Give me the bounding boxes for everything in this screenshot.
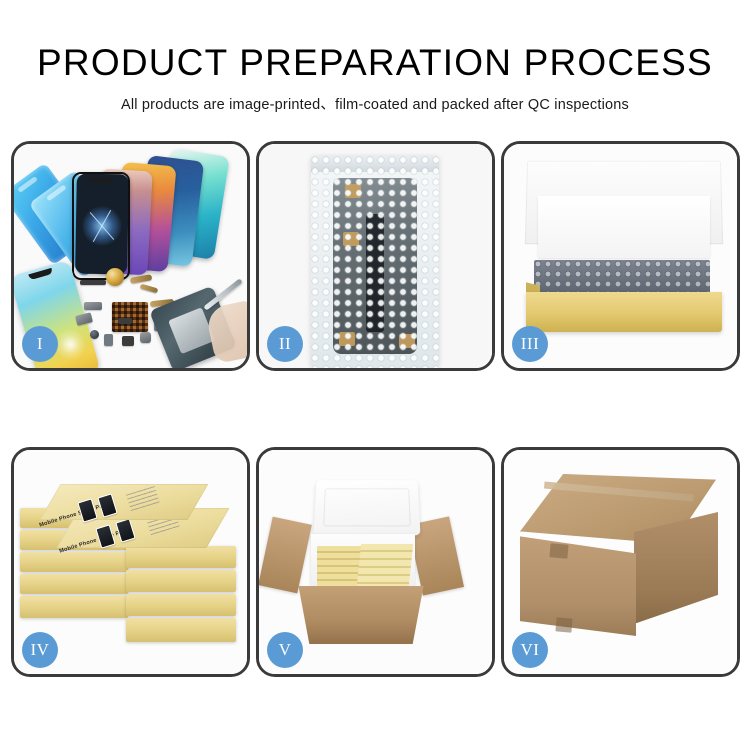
step-badge-1: I xyxy=(22,326,58,362)
process-step-1: I xyxy=(11,141,250,371)
stacked-box-r4 xyxy=(126,618,236,642)
stacked-box-r2 xyxy=(126,570,236,592)
carton-body xyxy=(293,586,429,644)
camera-lens-part xyxy=(90,330,99,339)
styrofoam-lid xyxy=(314,480,421,535)
page-title: PRODUCT PREPARATION PROCESS xyxy=(0,0,750,83)
page-subtitle: All products are image-printed、film-coat… xyxy=(0,83,750,114)
small-part-6 xyxy=(140,332,151,343)
yellow-boxes-inside-b xyxy=(357,544,413,586)
stacked-box-l5 xyxy=(20,596,128,618)
bubble-wrap-bag xyxy=(311,156,439,368)
bubble-texture xyxy=(311,156,439,368)
product-preparation-infographic: PRODUCT PREPARATION PROCESS All products… xyxy=(0,0,750,750)
step-badge-3: III xyxy=(512,326,548,362)
small-part-5 xyxy=(122,336,134,346)
process-step-5: V xyxy=(256,447,495,677)
small-part-7 xyxy=(118,318,132,324)
step-badge-2: II xyxy=(267,326,303,362)
step-badge-6: VI xyxy=(512,632,548,668)
process-step-3: III xyxy=(501,141,740,371)
stacked-box-l4 xyxy=(20,574,128,594)
gold-coil-part xyxy=(106,268,124,286)
chip-array-part xyxy=(112,302,148,332)
header: PRODUCT PREPARATION PROCESS All products… xyxy=(0,0,750,114)
small-part-4 xyxy=(104,334,113,346)
foam-sheet xyxy=(538,196,710,258)
tempered-glass-film xyxy=(72,172,130,280)
process-step-4: Mobile Phone Spare Parts Mobile Phone Sp… xyxy=(11,447,250,677)
stacked-box-r3 xyxy=(126,594,236,616)
small-part-2 xyxy=(84,302,102,310)
carton-tab-lower xyxy=(555,617,572,632)
carton-tab-upper xyxy=(549,543,568,559)
bubble-wrap-insert xyxy=(534,260,710,296)
small-part-1 xyxy=(80,280,106,285)
stacked-box-r1 xyxy=(126,546,236,568)
step-badge-5: V xyxy=(267,632,303,668)
process-step-2: II xyxy=(256,141,495,371)
step-badge-4: IV xyxy=(22,632,58,668)
process-step-6: VI xyxy=(501,447,740,677)
process-step-grid: I II xyxy=(11,141,739,677)
stacked-box-l3 xyxy=(20,552,128,572)
box-front-panel xyxy=(526,292,722,332)
